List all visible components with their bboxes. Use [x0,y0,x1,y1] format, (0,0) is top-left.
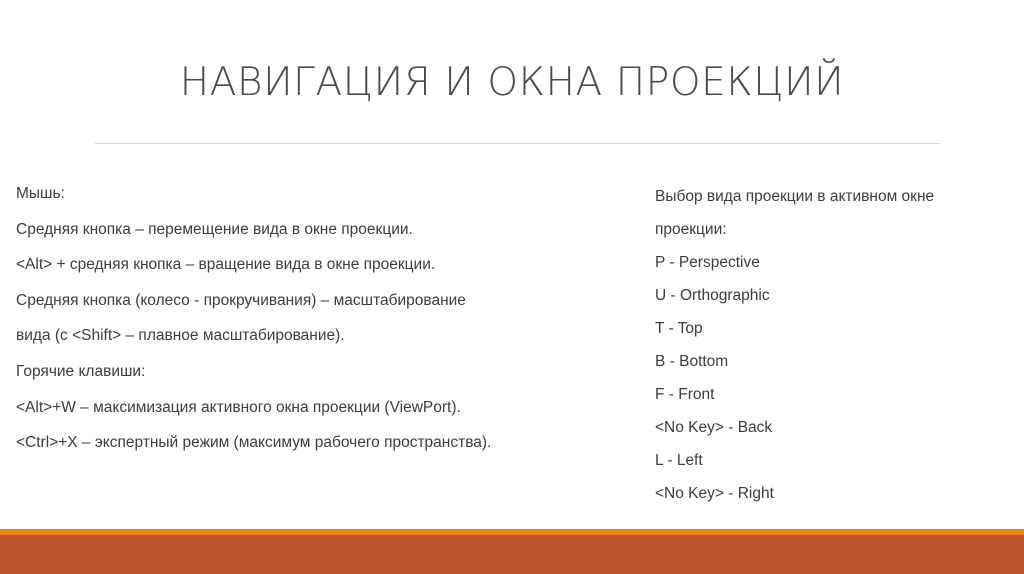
right-column-line: L - Left [655,444,1017,477]
right-column-heading-line-1: Выбор вида проекции в активном окне [655,180,1017,213]
slide-body: Мышь: Средняя кнопка – перемещение вида … [0,176,1024,506]
left-column-line: <Ctrl>+X – экспертный режим (максимум ра… [16,425,636,461]
right-column-line: P - Perspective [655,246,1017,279]
left-column-line: вида (с <Shift> – плавное масштабировани… [16,318,636,354]
left-column-line: Средняя кнопка – перемещение вида в окне… [16,212,636,248]
right-column-line: <No Key> - Back [655,411,1017,444]
right-column-line: U - Orthographic [655,279,1017,312]
right-column-line: T - Top [655,312,1017,345]
left-column-line: Средняя кнопка (колесо - прокручивания) … [16,283,636,319]
right-column-heading-line-2: проекции: [655,213,1017,246]
slide: Навигация и окна проекций Мышь: Средняя … [0,0,1024,574]
page-title: Навигация и окна проекций [0,58,1024,108]
right-column-line: F - Front [655,378,1017,411]
left-column-line: <Alt>+W – максимизация активного окна пр… [16,390,636,426]
left-column-line: <Alt> + средняя кнопка – вращение вида в… [16,247,636,283]
left-column-line: Мышь: [16,176,636,212]
left-column-line: Горячие клавиши: [16,354,636,390]
title-divider [95,143,940,144]
left-column: Мышь: Средняя кнопка – перемещение вида … [16,176,636,461]
right-column-line: <No Key> - Right [655,477,1017,510]
right-column-line: B - Bottom [655,345,1017,378]
right-column: Выбор вида проекции в активном окне прое… [655,180,1017,510]
footer-accent-bar-dark [0,535,1024,574]
